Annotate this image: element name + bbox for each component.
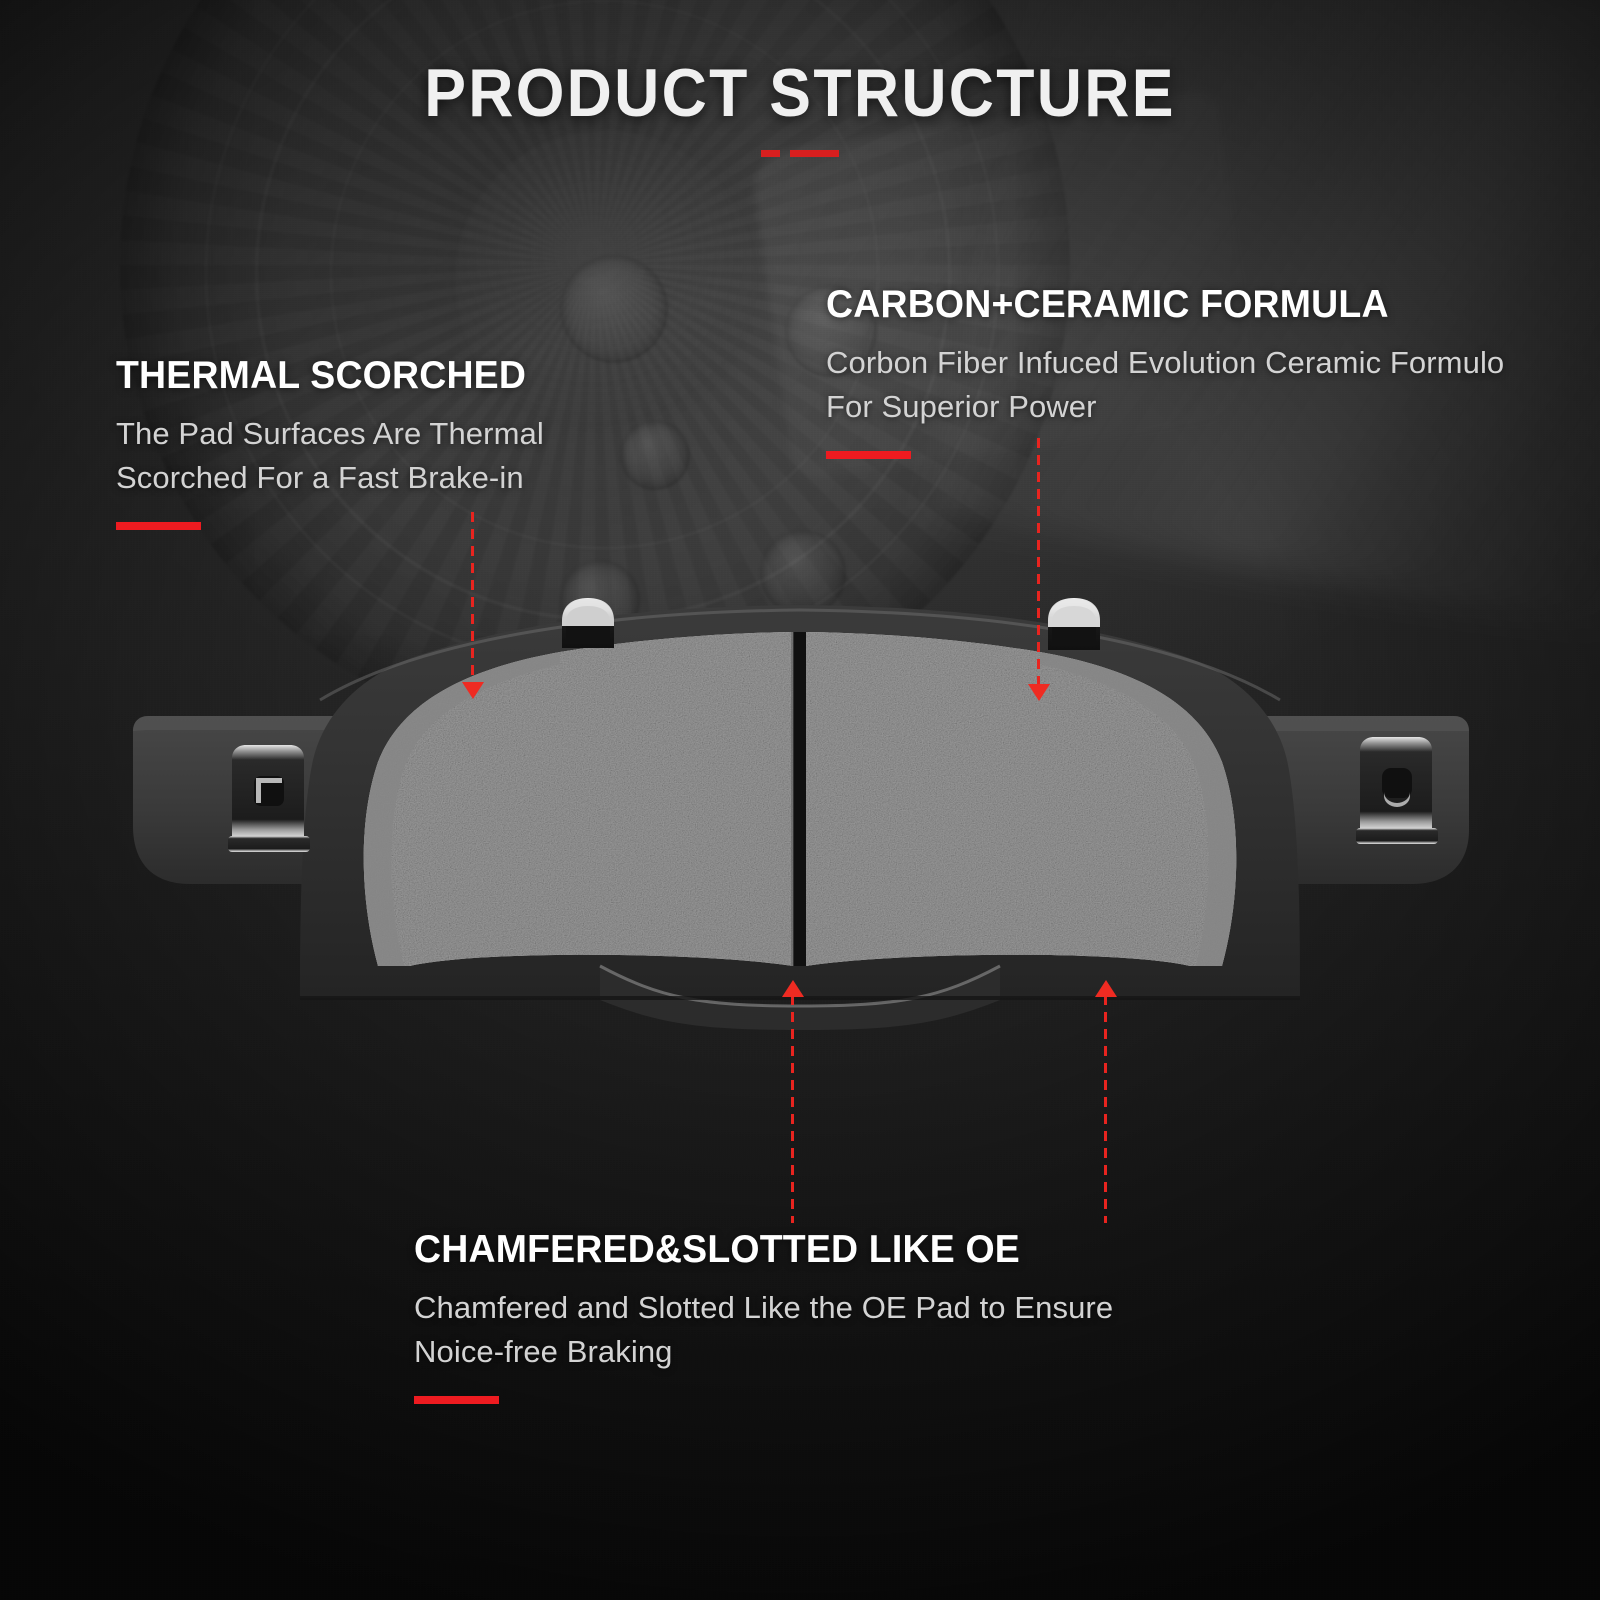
callout-accent-bar <box>116 522 201 530</box>
callout-body: Chamfered and Slotted Like the OE Pad to… <box>414 1286 1174 1374</box>
lug-nut-4 <box>560 560 640 640</box>
callout-accent-bar <box>414 1396 499 1404</box>
callout-body: The Pad Surfaces Are Thermal Scorched Fo… <box>116 412 676 500</box>
chamfer-pointer-line-left <box>791 995 794 1223</box>
callout-thermal-scorched: THERMAL SCORCHED The Pad Surfaces Are Th… <box>116 354 676 530</box>
accent-dash-long <box>790 150 839 157</box>
thermal-pointer-line <box>471 512 474 684</box>
callout-heading: CARBON+CERAMIC FORMULA <box>826 283 1498 327</box>
arrow-head-up-icon <box>1095 980 1117 997</box>
title-accent-marks <box>761 150 839 157</box>
arrow-head-down-icon <box>1028 684 1050 701</box>
accent-dash-short <box>761 150 780 157</box>
callout-accent-bar <box>826 451 911 459</box>
arrow-head-up-icon <box>782 980 804 997</box>
product-structure-infographic: PRODUCT STRUCTURE <box>0 0 1600 1600</box>
chamfer-pointer-line-right <box>1104 995 1107 1223</box>
arrow-head-down-icon <box>462 682 484 699</box>
callout-body: Corbon Fiber Infuced Evolution Ceramic F… <box>826 341 1526 429</box>
callout-carbon-ceramic-formula: CARBON+CERAMIC FORMULA Corbon Fiber Infu… <box>826 283 1526 459</box>
callout-chamfered-slotted: CHAMFERED&SLOTTED LIKE OE Chamfered and … <box>414 1228 1174 1404</box>
lug-nut-3 <box>760 530 846 616</box>
callout-heading: THERMAL SCORCHED <box>116 354 654 398</box>
page-title: PRODUCT STRUCTURE <box>64 54 1536 132</box>
callout-heading: CHAMFERED&SLOTTED LIKE OE <box>414 1228 1144 1272</box>
carbon-pointer-line <box>1037 438 1040 686</box>
lug-nut-1 <box>560 255 668 363</box>
